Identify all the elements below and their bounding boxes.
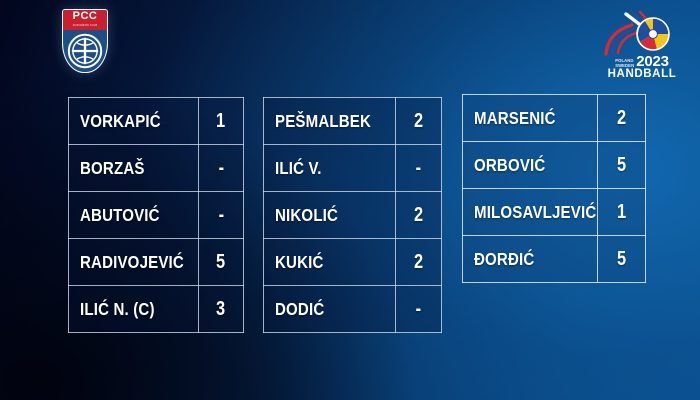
player-score-cell: 2: [396, 98, 442, 145]
player-score-cell: 2: [396, 192, 442, 239]
scorer-board-3: MARSENIĆ2ORBOVIĆ5MILOSAVLJEVIĆ1ĐORĐIĆ5: [462, 94, 646, 283]
player-name-cell: ILIĆ V.: [264, 145, 396, 192]
player-score-cell: 1: [199, 98, 244, 145]
player-name-cell: ĐORĐIĆ: [463, 236, 598, 283]
crest-shield: PCC RUKOMETNI KLUB: [62, 9, 108, 73]
ball-emblem-icon: [67, 33, 103, 69]
player-score-cell: 5: [598, 236, 646, 283]
player-name-cell: RADIVOJEVIĆ: [69, 239, 199, 286]
player-name-cell: DODIĆ: [264, 286, 396, 333]
event-year: 2023: [636, 55, 669, 68]
player-name-cell: NIKOLIĆ: [264, 192, 396, 239]
table-row: NIKOLIĆ2: [264, 192, 442, 239]
player-name-cell: ILIĆ N. (C): [69, 286, 199, 333]
table-row: BORZAŠ-: [69, 145, 244, 192]
event-host-line-2: SWEDEN: [615, 62, 634, 68]
player-name-cell: ORBOVIĆ: [463, 142, 598, 189]
player-name-cell: ABUTOVIĆ: [69, 192, 199, 239]
player-score-cell: 5: [598, 142, 646, 189]
player-name-cell: MARSENIĆ: [463, 95, 598, 142]
event-sport-word: HANDBALL: [596, 69, 688, 81]
player-score-cell: -: [199, 192, 244, 239]
player-score-cell: -: [199, 145, 244, 192]
event-logo-text: POLAND SWEDEN 2023 HANDBALL: [596, 55, 688, 81]
player-name-cell: KUKIĆ: [264, 239, 396, 286]
scorer-board-1: VORKAPIĆ1BORZAŠ-ABUTOVIĆ-RADIVOJEVIĆ5ILI…: [68, 97, 244, 333]
table-row: MILOSAVLJEVIĆ1: [463, 189, 646, 236]
table-row: VORKAPIĆ1: [69, 98, 244, 145]
player-name-cell: MILOSAVLJEVIĆ: [463, 189, 598, 236]
scorer-table-1-body: VORKAPIĆ1BORZAŠ-ABUTOVIĆ-RADIVOJEVIĆ5ILI…: [69, 98, 244, 333]
table-row: PEŠMALBEK2: [264, 98, 442, 145]
table-row: DODIĆ-: [264, 286, 442, 333]
scorer-table-3-body: MARSENIĆ2ORBOVIĆ5MILOSAVLJEVIĆ1ĐORĐIĆ5: [463, 95, 646, 283]
event-logo-year-row: POLAND SWEDEN 2023: [596, 55, 688, 68]
table-row: ĐORĐIĆ5: [463, 236, 646, 283]
player-score-cell: 5: [199, 239, 244, 286]
player-score-cell: -: [396, 145, 442, 192]
player-score-cell: -: [396, 286, 442, 333]
table-row: RADIVOJEVIĆ5: [69, 239, 244, 286]
event-logo: POLAND SWEDEN 2023 HANDBALL: [596, 8, 688, 82]
table-row: ORBOVIĆ5: [463, 142, 646, 189]
player-score-cell: 1: [598, 189, 646, 236]
crest-banner-text: PCC: [73, 11, 98, 22]
scorer-table-1: VORKAPIĆ1BORZAŠ-ABUTOVIĆ-RADIVOJEVIĆ5ILI…: [68, 97, 244, 333]
pcc-crest-icon: PCC RUKOMETNI KLUB: [59, 7, 111, 77]
crest-banner-subtext: RUKOMETNI KLUB: [73, 23, 97, 26]
scorer-table-2: PEŠMALBEK2ILIĆ V.-NIKOLIĆ2KUKIĆ2DODIĆ-: [263, 97, 442, 333]
table-row: ABUTOVIĆ-: [69, 192, 244, 239]
player-score-cell: 2: [598, 95, 646, 142]
graphic-stage: PCC RUKOMETNI KLUB: [0, 0, 700, 400]
player-name-cell: PEŠMALBEK: [264, 98, 396, 145]
table-row: KUKIĆ2: [264, 239, 442, 286]
player-score-cell: 3: [199, 286, 244, 333]
scorer-table-3: MARSENIĆ2ORBOVIĆ5MILOSAVLJEVIĆ1ĐORĐIĆ5: [462, 94, 646, 283]
scorer-table-2-body: PEŠMALBEK2ILIĆ V.-NIKOLIĆ2KUKIĆ2DODIĆ-: [264, 98, 442, 333]
player-name-cell: BORZAŠ: [69, 145, 199, 192]
player-score-cell: 2: [396, 239, 442, 286]
club-logo: PCC RUKOMETNI KLUB: [59, 7, 111, 77]
table-row: ILIĆ V.-: [264, 145, 442, 192]
player-name-cell: VORKAPIĆ: [69, 98, 199, 145]
table-row: ILIĆ N. (C)3: [69, 286, 244, 333]
crest-banner: PCC RUKOMETNI KLUB: [63, 10, 107, 30]
table-row: MARSENIĆ2: [463, 95, 646, 142]
scorer-board-2: PEŠMALBEK2ILIĆ V.-NIKOLIĆ2KUKIĆ2DODIĆ-: [263, 97, 442, 333]
